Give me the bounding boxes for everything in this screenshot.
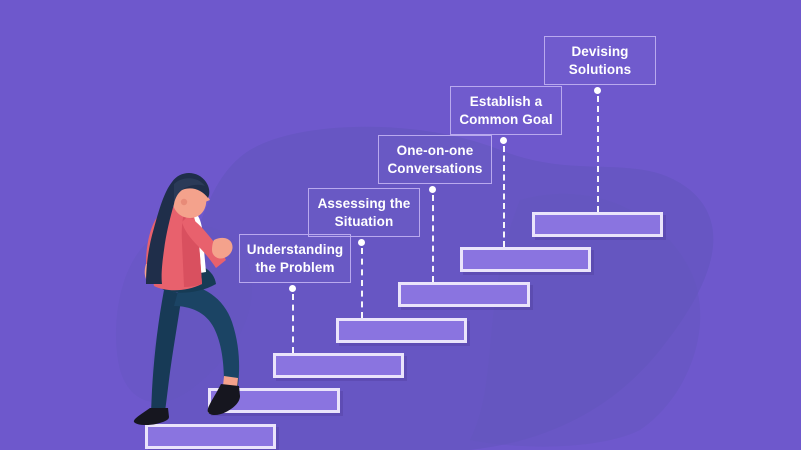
step-5 bbox=[398, 282, 530, 307]
label-line-1: Understanding bbox=[247, 242, 344, 257]
label-line-1: Devising bbox=[571, 44, 628, 59]
label-line-1: One-on-one bbox=[397, 143, 474, 158]
connector-dashed-line bbox=[292, 294, 294, 353]
step-7 bbox=[532, 212, 663, 237]
connector-dot bbox=[594, 87, 601, 94]
label-line-1: Assessing the bbox=[318, 196, 411, 211]
step-4 bbox=[336, 318, 467, 343]
figure-back-leg bbox=[151, 290, 182, 412]
figure-front-shoe bbox=[208, 384, 240, 415]
connector-devising-solutions bbox=[594, 87, 601, 212]
label-establish-a-common-goal[interactable]: Establish a Common Goal bbox=[450, 86, 562, 135]
label-text: Establish a Common Goal bbox=[459, 93, 552, 128]
connector-dot bbox=[289, 285, 296, 292]
figure-back-shoe bbox=[134, 408, 169, 425]
label-line-2: Common Goal bbox=[459, 112, 552, 127]
connector-dashed-line bbox=[432, 195, 434, 282]
connector-one-on-one-conversations bbox=[429, 186, 436, 282]
connector-dashed-line bbox=[361, 248, 363, 318]
connector-dot bbox=[358, 239, 365, 246]
infographic-canvas: Understanding the Problem Assessing the … bbox=[0, 0, 801, 450]
label-one-on-one-conversations[interactable]: One-on-one Conversations bbox=[378, 135, 492, 184]
connector-dot bbox=[429, 186, 436, 193]
label-text: Assessing the Situation bbox=[318, 195, 411, 230]
figure-ear bbox=[181, 199, 187, 205]
label-understanding-the-problem[interactable]: Understanding the Problem bbox=[239, 234, 351, 283]
label-text: Understanding the Problem bbox=[247, 241, 344, 276]
connector-dot bbox=[500, 137, 507, 144]
businesswoman-climbing-stairs-illustration bbox=[128, 172, 248, 430]
step-6 bbox=[460, 247, 591, 272]
label-line-2: Situation bbox=[335, 214, 394, 229]
label-line-2: Conversations bbox=[387, 161, 482, 176]
connector-dashed-line bbox=[597, 96, 599, 212]
figure-front-leg bbox=[174, 284, 239, 386]
step-3 bbox=[273, 353, 404, 378]
label-devising-solutions[interactable]: Devising Solutions bbox=[544, 36, 656, 85]
label-line-1: Establish a bbox=[470, 94, 542, 109]
connector-assessing-the-situation bbox=[358, 239, 365, 318]
label-line-2: the Problem bbox=[255, 260, 334, 275]
figure-front-hand bbox=[212, 238, 233, 259]
label-text: Devising Solutions bbox=[569, 43, 631, 78]
label-assessing-the-situation[interactable]: Assessing the Situation bbox=[308, 188, 420, 237]
connector-understanding-the-problem bbox=[289, 285, 296, 353]
label-text: One-on-one Conversations bbox=[387, 142, 482, 177]
connector-establish-a-common-goal bbox=[500, 137, 507, 247]
connector-dashed-line bbox=[503, 146, 505, 247]
label-line-2: Solutions bbox=[569, 62, 631, 77]
